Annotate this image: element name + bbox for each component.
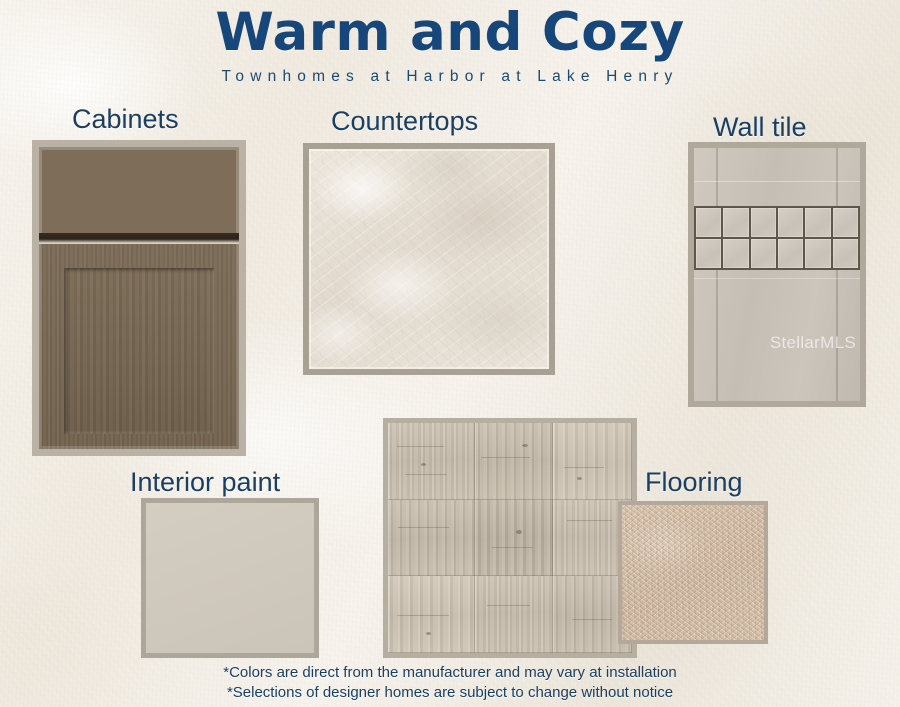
cabinet-door-front <box>39 244 239 449</box>
page-subtitle: Townhomes at Harbor at Lake Henry <box>0 68 900 86</box>
swatch-flooring <box>383 418 637 658</box>
wall-tile-mosaic-square <box>805 239 830 268</box>
footer-line: *Colors are direct from the manufacturer… <box>0 663 900 683</box>
footer-line: *Selections of designer homes are subjec… <box>0 683 900 703</box>
flooring-plank <box>388 500 475 577</box>
section-label-countertops: Countertops <box>331 106 478 137</box>
wall-tile-mosaic-square <box>723 239 748 268</box>
swatch-wall-tile: StellarMLS <box>688 142 866 407</box>
flooring-plank <box>388 423 475 500</box>
board-header: Warm and Cozy Townhomes at Harbor at Lak… <box>0 0 900 86</box>
wall-tile-upper-seam <box>694 181 860 182</box>
cabinet-drawer-front <box>39 147 239 233</box>
wall-tile-mosaic-square <box>751 239 776 268</box>
wall-tile-mosaic-square <box>696 208 721 237</box>
wall-tile-mosaic-square <box>696 239 721 268</box>
wall-tile-mosaic-band <box>694 206 860 270</box>
footer-disclaimer: *Colors are direct from the manufacturer… <box>0 663 900 703</box>
swatch-cabinets <box>32 140 246 456</box>
section-label-flooring: Flooring <box>645 467 743 498</box>
swatch-interior-paint <box>141 498 319 658</box>
flooring-plank <box>475 500 554 577</box>
flooring-plank <box>475 423 554 500</box>
wall-tile-mosaic-square <box>723 208 748 237</box>
countertop-quartz-field <box>309 149 549 369</box>
wall-tile-seam-right <box>836 148 838 401</box>
section-label-interior-paint: Interior paint <box>130 467 280 498</box>
section-label-cabinets: Cabinets <box>72 104 179 135</box>
flooring-plank <box>553 423 632 500</box>
page-title: Warm and Cozy <box>0 6 900 59</box>
wall-tile-mosaic-square <box>805 208 830 237</box>
wall-tile-lower-seam <box>694 278 860 279</box>
flooring-plank-grid <box>388 423 632 653</box>
wall-tile-mosaic-square <box>833 208 858 237</box>
wall-tile-mosaic-square <box>751 208 776 237</box>
stellar-mls-watermark: StellarMLS <box>770 333 856 353</box>
wall-tile-mosaic-square <box>778 208 803 237</box>
cabinet-drawer-reveal <box>39 233 239 244</box>
flooring-plank <box>475 576 554 653</box>
wall-tile-seam-left <box>716 148 718 401</box>
flooring-plank <box>388 576 475 653</box>
cabinet-door-recessed-panel <box>64 268 214 434</box>
carpet-pile-texture <box>622 505 764 640</box>
wall-tile-mosaic-square <box>778 239 803 268</box>
swatch-countertops <box>303 143 555 375</box>
swatch-carpet <box>618 501 768 644</box>
wall-tile-mosaic-square <box>833 239 858 268</box>
section-label-wall-tile: Wall tile <box>713 112 807 143</box>
